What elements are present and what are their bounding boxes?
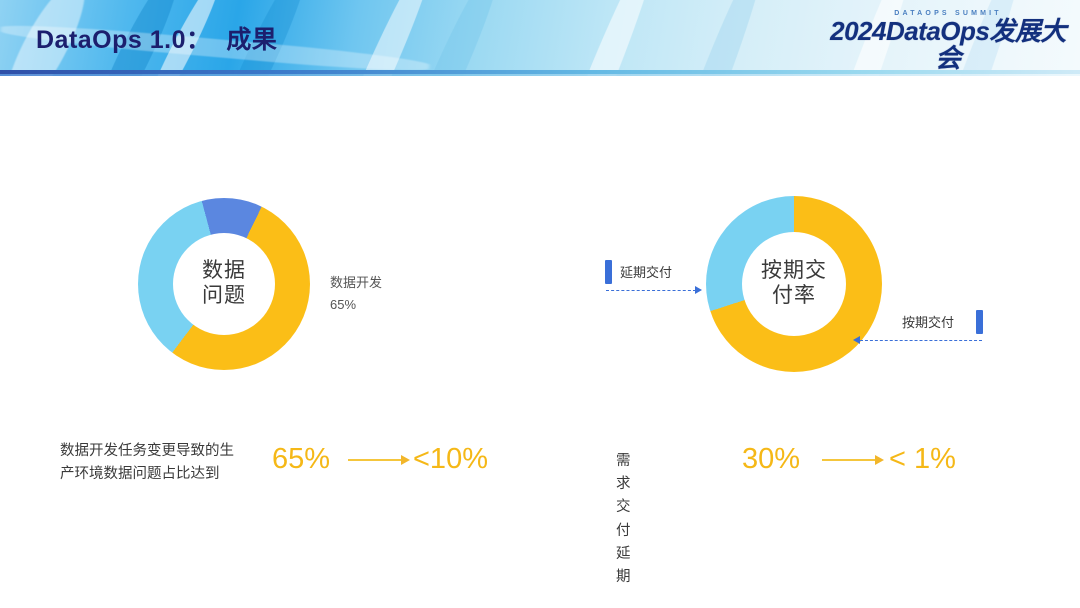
stat-value-before: 65% [272,443,330,476]
callout-connector-line [606,290,696,291]
stat-value-after: <10% [413,443,488,476]
stat-arrow-icon [348,455,410,465]
legend-label: 数据开发 [330,272,382,294]
callout-arrow-head-icon [853,336,860,344]
donut-chart-ontime-delivery: 按期交 付率 [706,196,882,372]
callout-label: 延期交付 [620,262,672,281]
callout-label: 按期交付 [902,312,954,331]
donut-center-label: 按期交 付率 [761,259,827,309]
donut-chart-data-issues: 数据 问题 [138,198,310,370]
stat-value-before: 30% [742,443,800,476]
banner-streak [531,0,668,76]
stat-description: 数据开发任务变更导致的生 产环境数据问题占比达到 [60,440,275,486]
callout-marker-bar [976,310,983,334]
summit-logo: DATAOPS SUMMIT 2024DataOps发展大会 — 智驭新程·数驭… [828,8,1068,70]
summit-logo-title: 2024DataOps发展大会 [828,18,1068,73]
callout-arrow-head-icon [695,286,702,294]
banner-streak [644,0,777,76]
stat-value-after: < 1% [889,443,956,476]
donut-ring: 按期交 付率 [706,196,882,372]
legend-data-development: 数据开发 65% [330,272,382,316]
donut-center-label: 数据 问题 [202,259,246,309]
donut-center: 按期交 付率 [742,232,846,336]
callout-marker-bar [605,260,612,284]
page-title: DataOps 1.0： 成果 [36,20,277,56]
stat-arrow-icon [822,455,884,465]
donut-ring: 数据 问题 [138,198,310,370]
stat-description: 需求交付延期 [616,450,631,589]
banner-divider-secondary [0,74,1080,76]
header-banner: DataOps 1.0： 成果 DATAOPS SUMMIT 2024DataO… [0,0,1080,76]
callout-connector-line [860,340,982,341]
donut-center: 数据 问题 [173,233,275,335]
legend-value: 65% [330,294,382,316]
